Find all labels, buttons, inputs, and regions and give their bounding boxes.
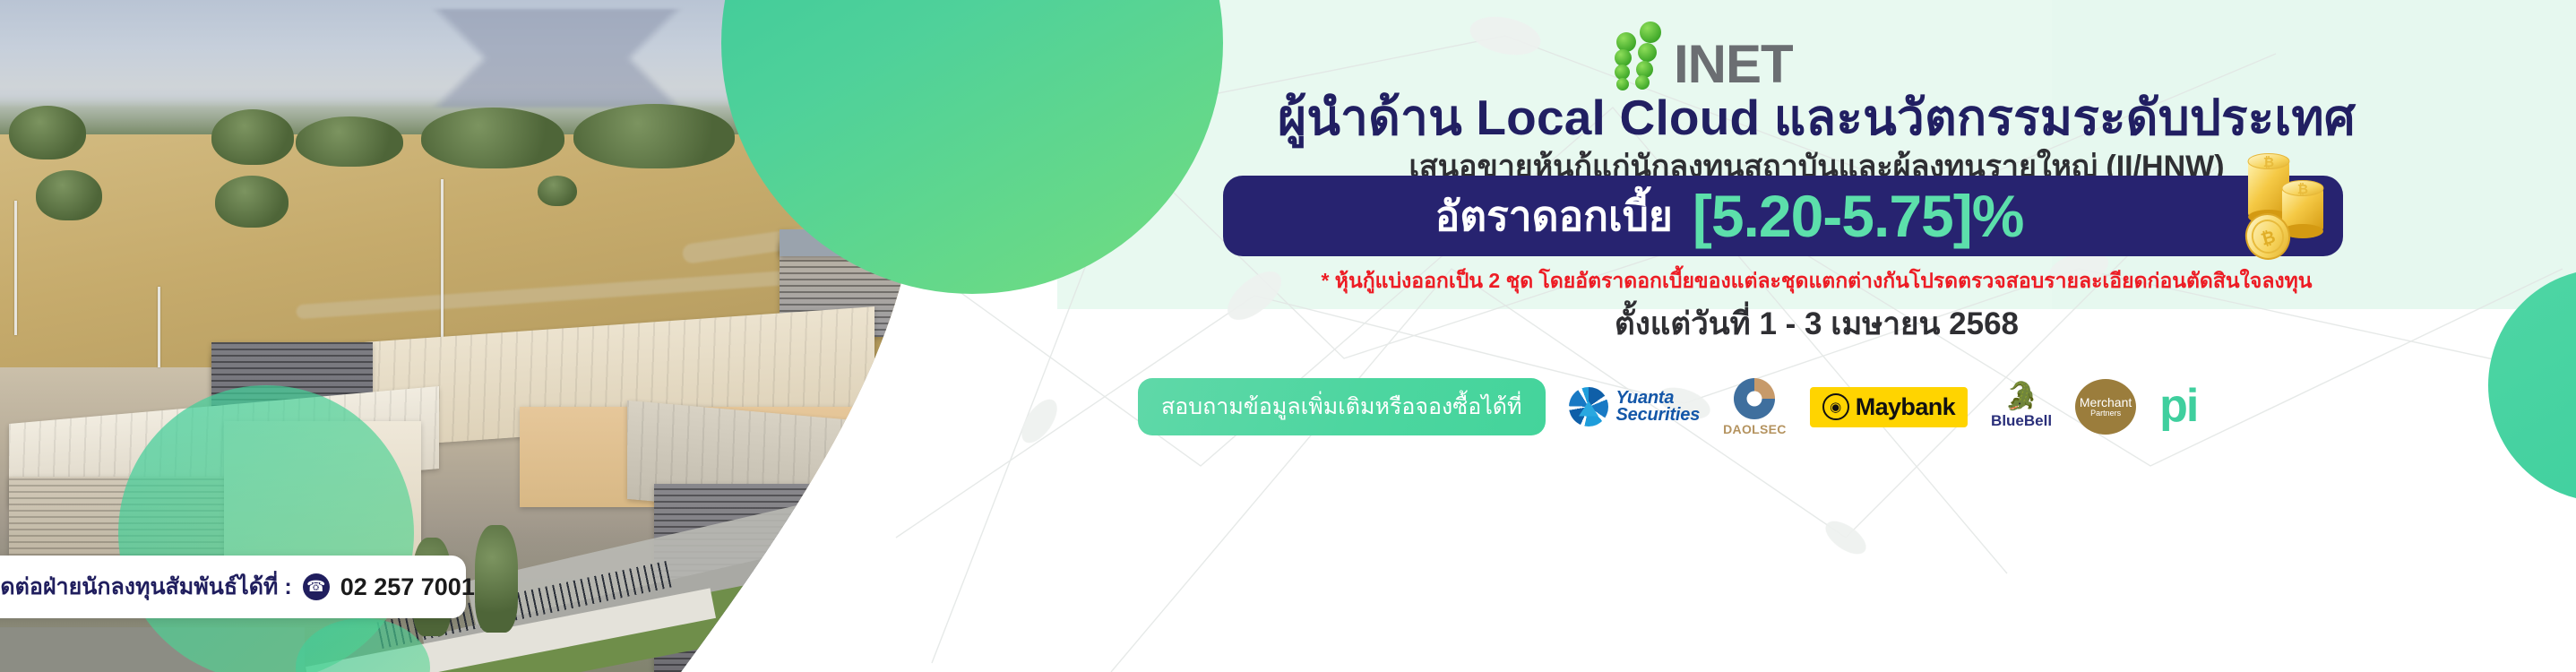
partner-logo-daol[interactable]: DAOLSEC [1723,378,1787,436]
phone-icon: ☎ [303,573,330,600]
inet-bond-offering-banner: ติดต่อฝ่ายนักลงทุนสัมพันธ์ได้ที่ : ☎ 02 … [0,0,2576,672]
inet-dna-dots-logo [1613,20,1668,88]
inet-logo[interactable]: INET [1613,20,1793,88]
daol-line2: SEC [1760,422,1787,436]
contact-label: ติดต่อฝ่ายนักลงทุนสัมพันธ์ได้ที่ : [0,569,292,605]
partner-logo-maybank[interactable]: ◉ Maybank [1810,387,1968,427]
investor-relations-contact-bar[interactable]: ติดต่อฝ่ายนักลงทุนสัมพันธ์ได้ที่ : ☎ 02 … [0,556,466,618]
interest-rate-label: อัตราดอกเบี้ย [1435,184,1673,249]
maybank-tiger-icon: ◉ [1822,393,1849,420]
maybank-wordmark: Maybank [1856,393,1955,421]
partner-logo-bluebell[interactable]: 🐊 BlueBell [1991,383,2052,430]
daol-line1: DAOL [1723,422,1760,436]
partner-logo-list: Yuanta Securities DAOLSEC [1569,378,2198,436]
partner-logo-merchant-partners[interactable]: Merchant Partners [2075,379,2136,435]
partner-logo-yuanta[interactable]: Yuanta Securities [1569,387,1701,426]
bluebell-wordmark: BlueBell [1991,412,2052,430]
partner-logo-pi[interactable]: pi [2159,388,2197,426]
bluebell-deer-icon: 🐊 [2004,383,2038,410]
svg-text:₿: ₿ [2263,155,2274,170]
interest-rate-box: อัตราดอกเบี้ย [5.20-5.75]% [1223,176,2343,256]
cta-and-partners-row: สอบถามข้อมูลเพิ่มเติมหรือจองซื้อได้ที่ Y… [1138,375,2572,439]
inquire-or-subscribe-button[interactable]: สอบถามข้อมูลเพิ่มเติมหรือจองซื้อได้ที่ [1138,378,1546,435]
daol-pie-icon [1734,378,1775,419]
pi-wordmark-icon: pi [2159,388,2197,426]
merchant-line2: Partners [2090,409,2121,418]
yuanta-star-icon [1569,387,1608,426]
merchant-circle-icon: Merchant Partners [2075,379,2136,435]
banner-content-column: INET ผู้นำด้าน Local Cloud และนวัตกรรมระ… [1057,0,2576,672]
merchant-line1: Merchant [2080,396,2132,409]
interest-rate-value: [5.20-5.75]% [1693,186,2024,246]
yuanta-line2: Securities [1616,405,1701,425]
contact-phone-number[interactable]: 02 257 7001 [340,573,475,601]
gold-coin-stack-icon: ₿ ₿ ₿ [2230,147,2347,263]
disclaimer-note: * หุ้นกู้แบ่งออกเป็น 2 ชุด โดยอัตราดอกเบ… [1057,265,2576,297]
svg-text:₿: ₿ [2297,182,2308,197]
offering-period: ตั้งแต่วันที่ 1 - 3 เมษายน 2568 [1057,299,2576,349]
